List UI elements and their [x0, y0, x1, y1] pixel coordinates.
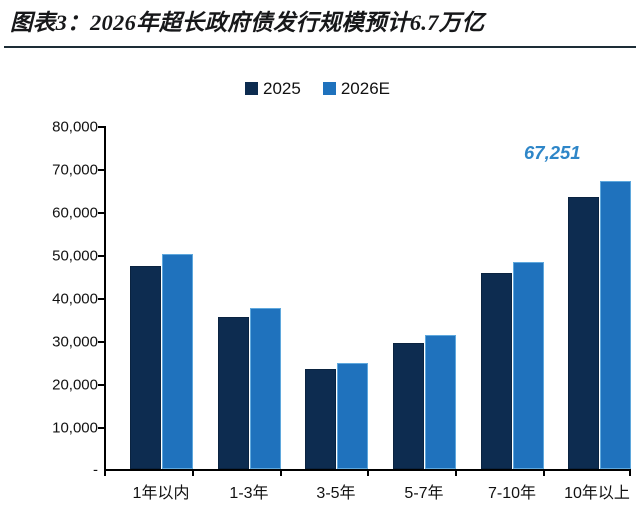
- y-axis-label-50000: 50,000: [24, 248, 98, 265]
- bar-2025-3-5年[interactable]: [305, 369, 336, 469]
- bar-2025-5-7年[interactable]: [393, 343, 424, 469]
- y-tick-10000: [98, 427, 105, 429]
- y-axis-label-10000: 10,000: [24, 420, 98, 437]
- bar-2026e-10年以上[interactable]: [600, 181, 631, 469]
- x-tick-6: [629, 469, 631, 476]
- y-axis-label-zero: -: [24, 462, 98, 479]
- bar-2025-7-10年[interactable]: [481, 273, 512, 469]
- y-tick-20000: [98, 384, 105, 386]
- x-axis-label-1年以内: 1年以内: [133, 479, 190, 503]
- y-axis-label-60000: 60,000: [24, 205, 98, 222]
- y-axis-label-30000: 30,000: [24, 334, 98, 351]
- bar-2026e-7-10年[interactable]: [513, 262, 544, 469]
- y-axis-labels: 80,000 70,000 60,000 50,000 40,000 30,00…: [18, 0, 98, 517]
- bar-2026e-1-3年[interactable]: [250, 308, 281, 469]
- y-tick-70000: [98, 169, 105, 171]
- data-label-67251: 67,251: [524, 142, 581, 164]
- y-tick-80000: [98, 126, 105, 128]
- y-tick-50000: [98, 255, 105, 257]
- y-tick-30000: [98, 341, 105, 343]
- x-tick-5: [543, 469, 545, 476]
- x-tick-4: [455, 469, 457, 476]
- bar-2026e-1年以内[interactable]: [162, 254, 193, 469]
- x-axis-label-3-5年: 3-5年: [316, 479, 355, 503]
- x-axis-label-7-10年: 7-10年: [488, 479, 536, 503]
- y-axis-label-70000: 70,000: [24, 162, 98, 179]
- x-tick-0: [104, 469, 106, 476]
- x-axis-label-5-7年: 5-7年: [404, 479, 443, 503]
- x-tick-3: [367, 469, 369, 476]
- y-tick-60000: [98, 212, 105, 214]
- bar-2026e-3-5年[interactable]: [337, 363, 368, 469]
- x-tick-2: [280, 469, 282, 476]
- y-axis-label-40000: 40,000: [24, 291, 98, 308]
- bar-2026e-5-7年[interactable]: [425, 335, 456, 469]
- x-tick-1: [192, 469, 194, 476]
- bar-2025-1-3年[interactable]: [218, 317, 249, 469]
- bar-chart-plot: 80,000 70,000 60,000 50,000 40,000 30,00…: [0, 0, 640, 517]
- x-axis-label-10年以上: 10年以上: [564, 479, 630, 503]
- bar-2025-1年以内[interactable]: [130, 266, 161, 469]
- y-axis-label-80000: 80,000: [24, 119, 98, 136]
- bar-2025-10年以上[interactable]: [568, 197, 599, 469]
- y-tick-40000: [98, 298, 105, 300]
- y-axis-label-20000: 20,000: [24, 377, 98, 394]
- x-axis-label-1-3年: 1-3年: [229, 479, 268, 503]
